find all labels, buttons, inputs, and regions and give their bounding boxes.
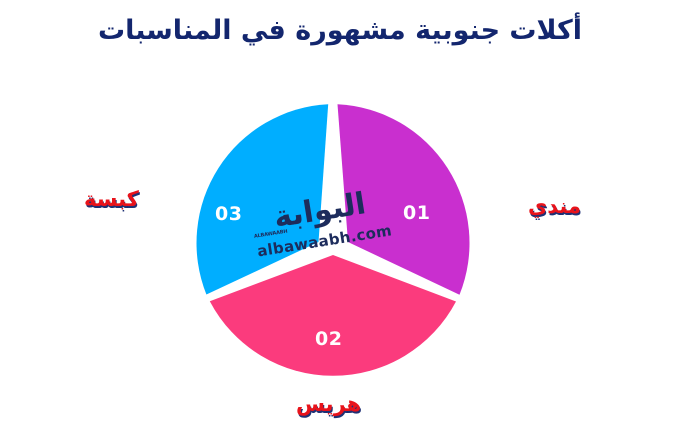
callout-label-mandi: مندي bbox=[528, 194, 581, 218]
callout-label-harees: هريس bbox=[296, 392, 361, 416]
callout-label-kabsa: كبسة bbox=[84, 187, 139, 211]
pie-slice-label-02: 02 bbox=[315, 328, 342, 350]
page-title: أكلات جنوبية مشهورة في المناسبات bbox=[0, 14, 680, 48]
pie-slice-label-03: 03 bbox=[215, 203, 242, 225]
infographic-canvas: أكلات جنوبية مشهورة في المناسبات 01 02 0… bbox=[0, 0, 680, 437]
pie-slice-label-01: 01 bbox=[403, 202, 430, 224]
